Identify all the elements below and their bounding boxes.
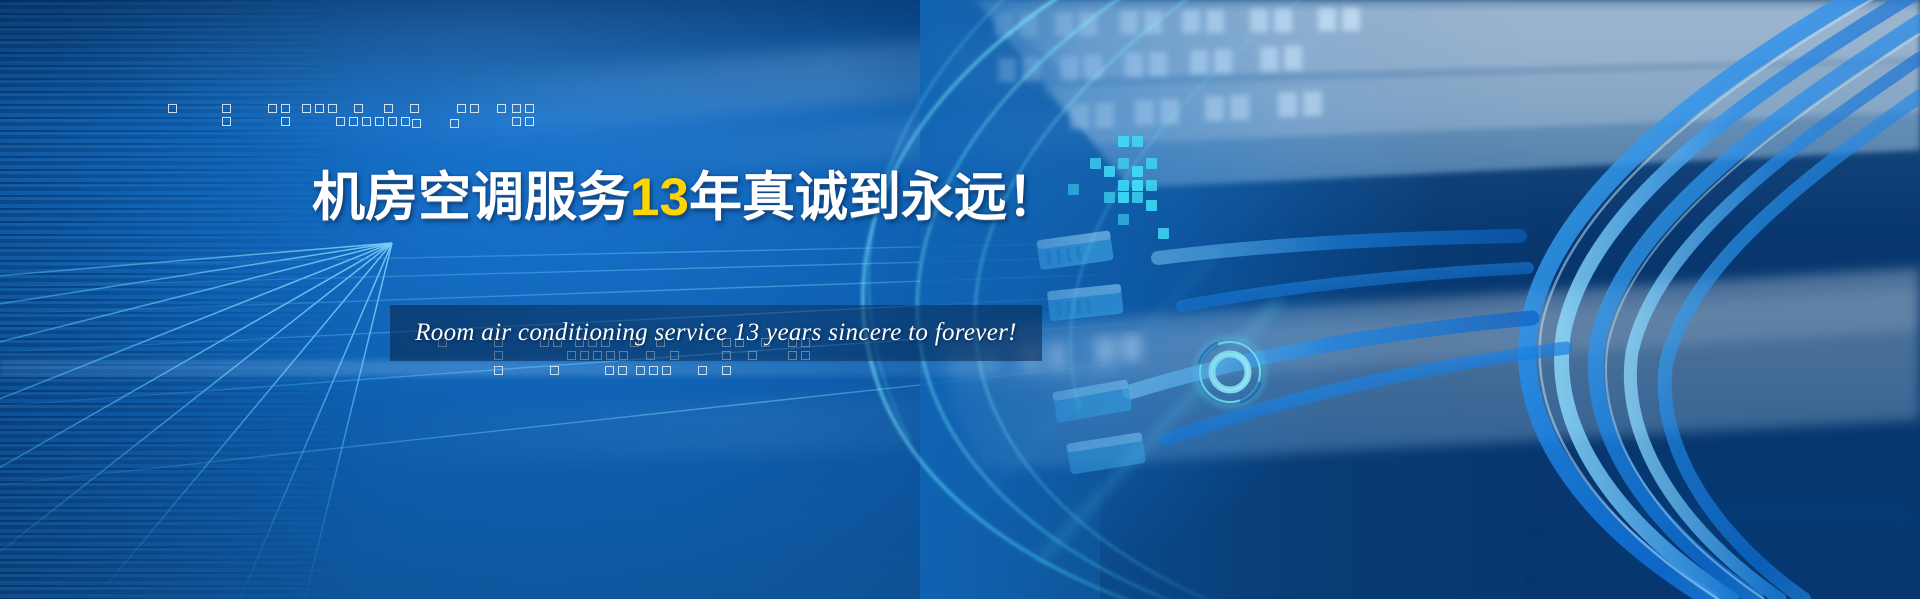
- decorative-squares-upper: [160, 100, 580, 144]
- title-highlight-years: 13: [630, 168, 689, 227]
- pixel-cluster: [1090, 136, 1200, 246]
- title-suffix: 年真诚到永远！: [689, 168, 1060, 227]
- neon-arcs: [760, 0, 1520, 599]
- page-subtitle: Room air conditioning service 13 years s…: [390, 305, 1042, 361]
- page-title: 机房空调服务13年真诚到永远！: [312, 168, 1060, 228]
- subtitle-underglow: [0, 360, 1120, 376]
- hero-banner: 机房空调服务13年真诚到永远！ Room air conditioning se…: [0, 0, 1920, 599]
- title-prefix: 机房空调服务: [312, 168, 630, 227]
